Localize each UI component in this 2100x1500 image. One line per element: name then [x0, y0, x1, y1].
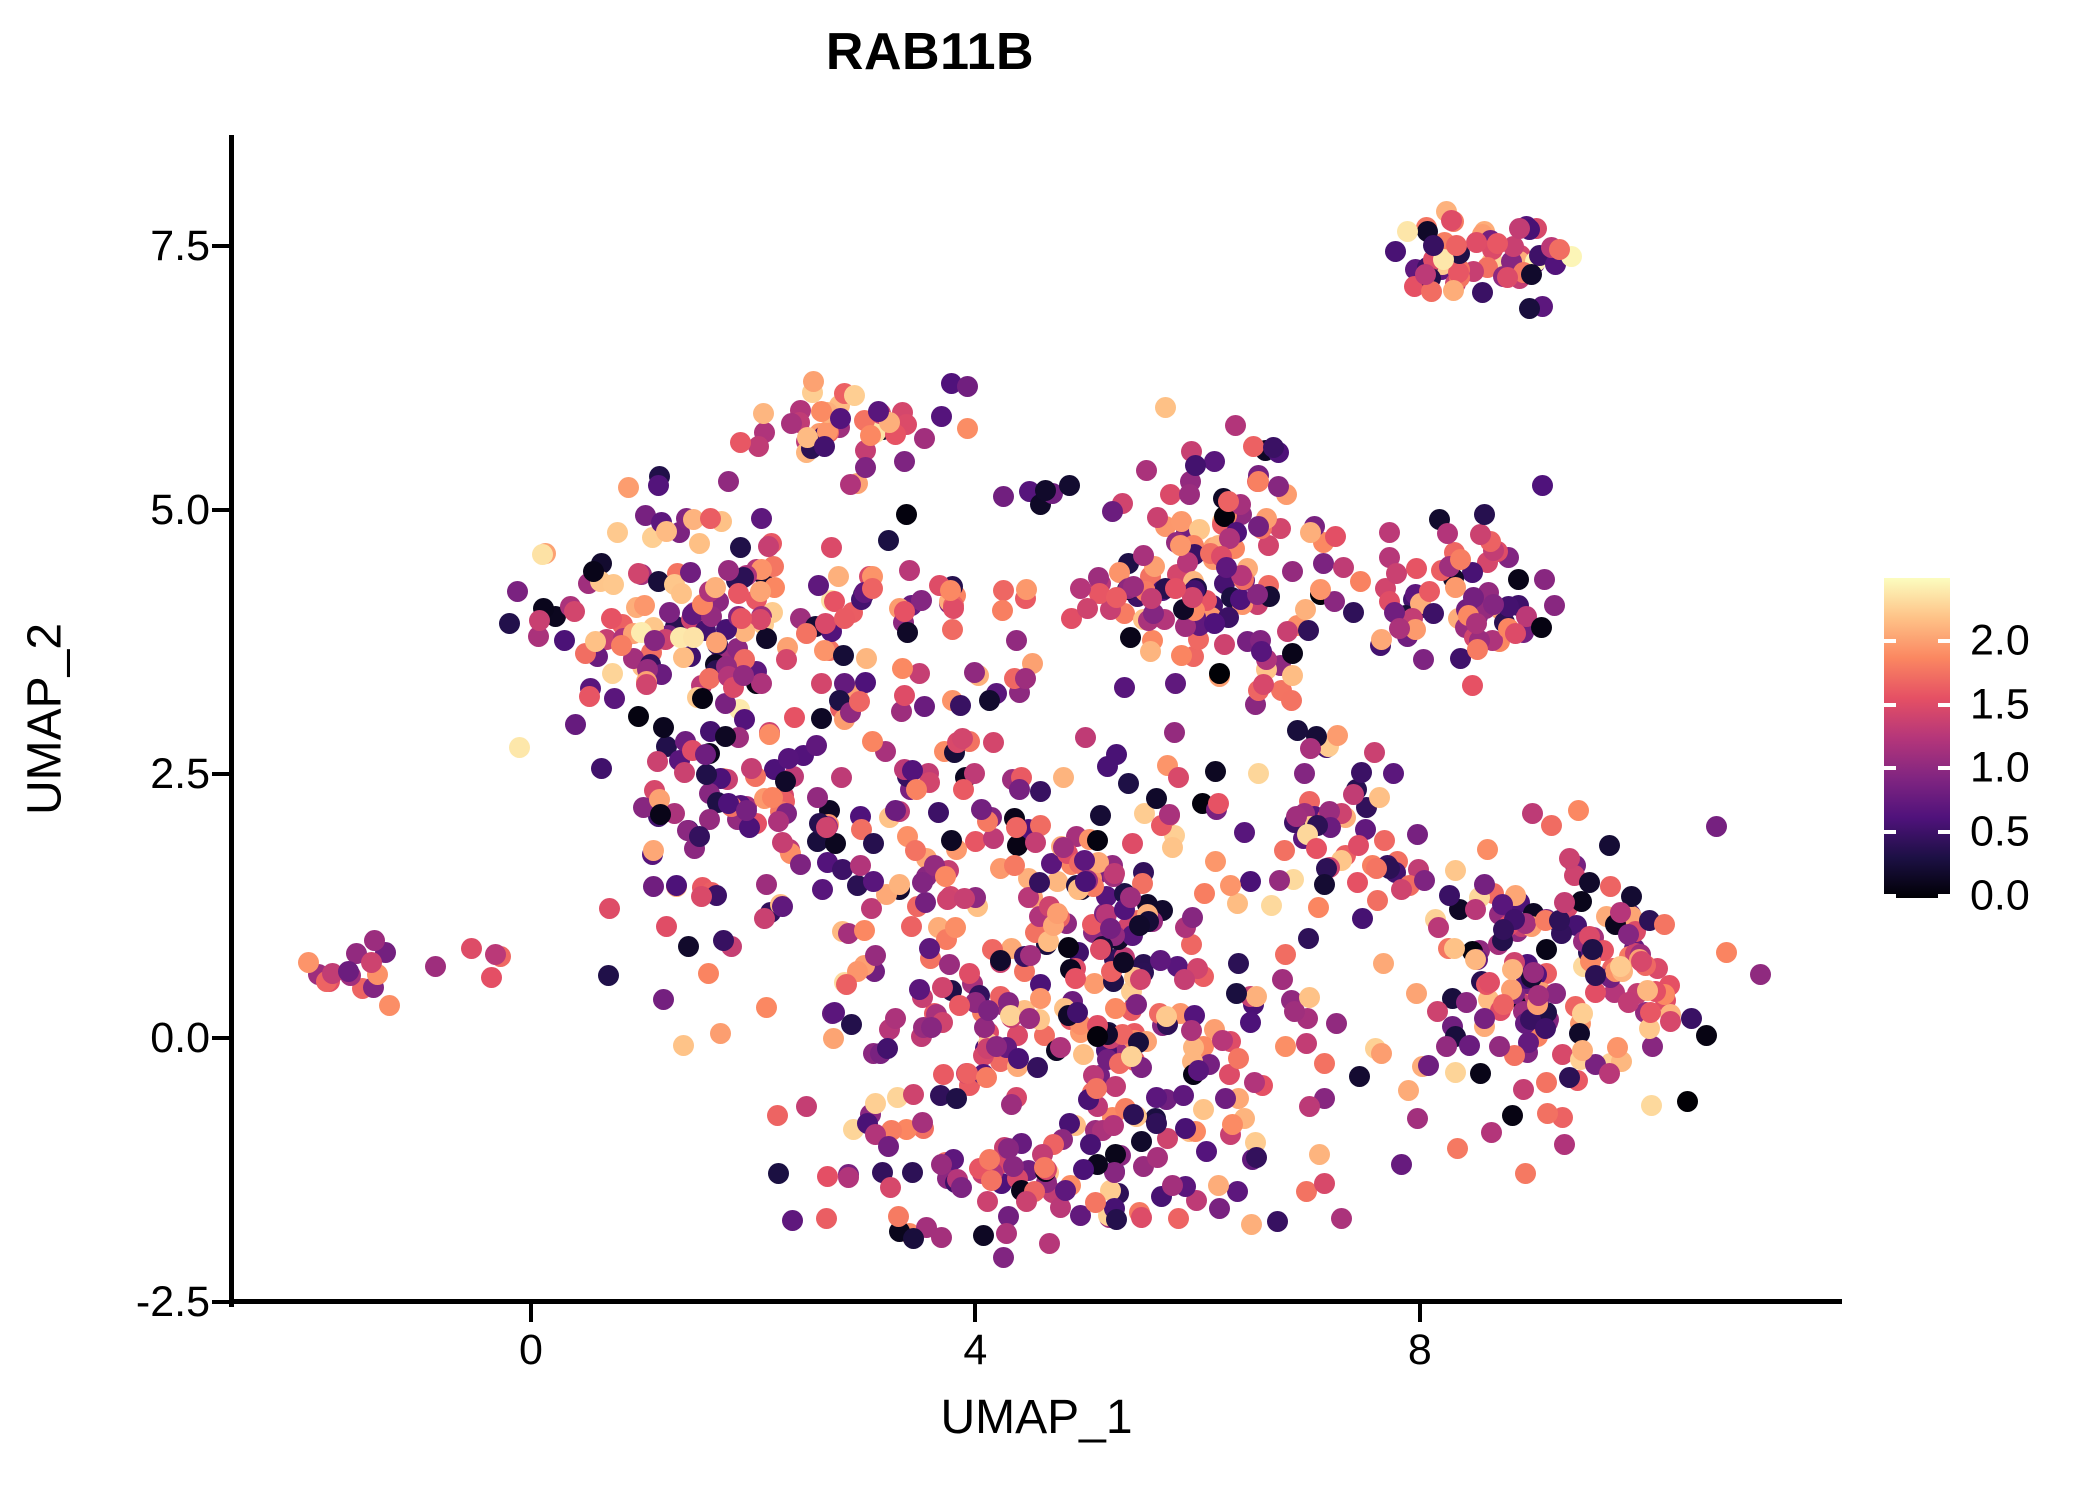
- scatter-point: [1122, 833, 1143, 854]
- scatter-point: [1294, 763, 1315, 784]
- scatter-point: [1366, 858, 1387, 879]
- scatter-point: [1047, 871, 1068, 892]
- scatter-point: [529, 610, 550, 631]
- colorbar-tick-mark: [1938, 830, 1950, 834]
- scatter-point: [912, 1112, 933, 1133]
- scatter-point: [1123, 1104, 1144, 1125]
- scatter-point: [1287, 720, 1308, 741]
- scatter-point: [1281, 690, 1302, 711]
- scatter-point: [1407, 824, 1428, 845]
- scatter-point: [710, 1023, 731, 1044]
- scatter-point: [751, 673, 772, 694]
- scatter-point: [1234, 822, 1255, 843]
- scatter-point: [856, 648, 877, 669]
- scatter-point: [903, 1084, 924, 1105]
- scatter-point: [1282, 561, 1303, 582]
- scatter-point: [1310, 579, 1331, 600]
- scatter-point: [666, 875, 687, 896]
- scatter-point: [1073, 1044, 1094, 1065]
- scatter-point: [653, 989, 674, 1010]
- scatter-point: [1120, 887, 1141, 908]
- scatter-point: [1391, 879, 1412, 900]
- scatter-point: [1001, 1094, 1022, 1115]
- scatter-point: [778, 748, 799, 769]
- scatter-point: [1222, 1114, 1243, 1135]
- scatter-point: [860, 425, 881, 446]
- scatter-point: [1212, 1030, 1233, 1051]
- scatter-point: [1146, 1087, 1167, 1108]
- scatter-point: [834, 608, 855, 629]
- scatter-point: [1493, 994, 1514, 1015]
- scatter-point: [1268, 476, 1289, 497]
- scatter-point: [1364, 742, 1385, 763]
- scatter-point: [1326, 1013, 1347, 1034]
- scatter-point: [1371, 1043, 1392, 1064]
- scatter-point: [1240, 871, 1261, 892]
- scatter-point: [812, 879, 833, 900]
- scatter-point: [692, 688, 713, 709]
- scatter-point: [1447, 1138, 1468, 1159]
- scatter-point: [1205, 851, 1226, 872]
- scatter-point: [1240, 1012, 1261, 1033]
- scatter-point: [1173, 1085, 1194, 1106]
- scatter-point: [601, 608, 622, 629]
- scatter-point: [1004, 855, 1025, 876]
- scatter-point: [1537, 1103, 1558, 1124]
- scatter-point: [1367, 890, 1388, 911]
- scatter-point: [1282, 643, 1303, 664]
- scatter-point: [718, 471, 739, 492]
- colorbar-tick-mark: [1938, 766, 1950, 770]
- scatter-point: [807, 787, 828, 808]
- scatter-point: [1600, 876, 1621, 897]
- x-axis-line: [229, 1299, 1842, 1304]
- scatter-point: [993, 1247, 1014, 1268]
- scatter-point: [1243, 436, 1264, 457]
- scatter-point: [1391, 1154, 1412, 1175]
- scatter-point: [713, 930, 734, 951]
- scatter-point: [598, 965, 619, 986]
- scatter-point: [897, 622, 918, 643]
- x-tick-label: 4: [915, 1326, 1035, 1375]
- scatter-point: [863, 871, 884, 892]
- scatter-point: [671, 583, 692, 604]
- scatter-point: [838, 1167, 859, 1188]
- colorbar-tick-label: 0.0: [1970, 872, 2030, 921]
- y-tick-mark: [212, 1300, 229, 1304]
- scatter-point: [1170, 535, 1191, 556]
- scatter-point: [957, 418, 978, 439]
- scatter-point: [1706, 816, 1727, 837]
- scatter-point: [821, 537, 842, 558]
- scatter-point: [790, 854, 811, 875]
- scatter-point: [1406, 558, 1427, 579]
- scatter-point: [1386, 563, 1407, 584]
- scatter-point: [977, 1191, 998, 1212]
- scatter-point: [1641, 1095, 1662, 1116]
- scatter-point: [1131, 1207, 1152, 1228]
- y-tick-mark: [212, 508, 229, 512]
- scatter-point: [885, 800, 906, 821]
- colorbar-tick-mark: [1884, 639, 1896, 643]
- scatter-point: [880, 1177, 901, 1198]
- scatter-point: [1441, 210, 1462, 231]
- scatter-point: [750, 581, 771, 602]
- scatter-point: [1642, 1036, 1663, 1057]
- scatter-point: [753, 403, 774, 424]
- scatter-point: [784, 707, 805, 728]
- scatter-point: [1349, 1066, 1370, 1087]
- scatter-point: [1208, 793, 1229, 814]
- scatter-point: [1253, 674, 1274, 695]
- scatter-point: [705, 577, 726, 598]
- scatter-point: [1467, 639, 1488, 660]
- y-tick-mark: [212, 1036, 229, 1040]
- scatter-point: [1034, 1157, 1055, 1178]
- scatter-point: [425, 956, 446, 977]
- scatter-point: [1462, 675, 1483, 696]
- colorbar-tick-label: 2.0: [1970, 616, 2030, 665]
- scatter-point: [1272, 969, 1293, 990]
- scatter-point: [888, 1206, 909, 1227]
- scatter-point: [1528, 985, 1549, 1006]
- scatter-point: [1314, 874, 1335, 895]
- scatter-point: [1535, 1018, 1556, 1039]
- scatter-point: [1427, 1001, 1448, 1022]
- scatter-point: [906, 779, 927, 800]
- scatter-point: [1572, 1040, 1593, 1061]
- scatter-point: [554, 630, 575, 651]
- scatter-point: [1444, 938, 1465, 959]
- scatter-point: [1008, 1048, 1029, 1069]
- scatter-point: [1470, 1063, 1491, 1084]
- scatter-point: [741, 758, 762, 779]
- scatter-point: [1165, 673, 1186, 694]
- scatter-point: [902, 1162, 923, 1183]
- scatter-point: [1168, 767, 1189, 788]
- scatter-point: [1681, 1008, 1702, 1029]
- scatter-point: [878, 530, 899, 551]
- scatter-point: [768, 1163, 789, 1184]
- x-tick-mark: [973, 1304, 977, 1322]
- scatter-point: [1374, 830, 1395, 851]
- scatter-point: [1631, 951, 1652, 972]
- scatter-point: [1220, 875, 1241, 896]
- scatter-point: [1164, 722, 1185, 743]
- scatter-point: [1343, 602, 1364, 623]
- scatter-point: [1121, 1046, 1142, 1067]
- scatter-point: [1306, 838, 1327, 859]
- scatter-point: [1016, 579, 1037, 600]
- scatter-point: [942, 619, 963, 640]
- scatter-point: [1058, 937, 1079, 958]
- scatter-point: [1610, 956, 1631, 977]
- scatter-point: [298, 952, 319, 973]
- scatter-point: [338, 961, 359, 982]
- scatter-point: [1248, 471, 1269, 492]
- scatter-point: [736, 800, 757, 821]
- scatter-point: [758, 536, 779, 557]
- scatter-point: [1541, 815, 1562, 836]
- colorbar-tick-mark: [1884, 703, 1896, 707]
- scatter-point: [1497, 267, 1518, 288]
- scatter-point: [1314, 1173, 1335, 1194]
- scatter-point: [751, 508, 772, 529]
- scatter-point: [759, 724, 780, 745]
- x-tick-label: 8: [1360, 1326, 1480, 1375]
- scatter-point: [992, 600, 1013, 621]
- scatter-point: [599, 898, 620, 919]
- scatter-point: [1275, 1036, 1296, 1057]
- scatter-point: [830, 408, 851, 429]
- scatter-point: [1067, 1002, 1088, 1023]
- scatter-point: [1513, 1079, 1534, 1100]
- scatter-point: [981, 1170, 1002, 1191]
- scatter-point: [986, 1036, 1007, 1057]
- y-tick-label: 7.5: [150, 222, 210, 271]
- scatter-point: [507, 581, 528, 602]
- scatter-point: [1174, 969, 1195, 990]
- scatter-point: [1162, 837, 1183, 858]
- chart-root: RAB11B -2.50.02.55.07.5 048 UMAP_1 UMAP_…: [0, 0, 2100, 1500]
- scatter-point: [1296, 1033, 1317, 1054]
- y-tick-label: 0.0: [150, 1014, 210, 1063]
- scatter-point: [1118, 773, 1139, 794]
- scatter-point: [1080, 1134, 1101, 1155]
- scatter-point: [1196, 1141, 1217, 1162]
- scatter-point: [1015, 668, 1036, 689]
- colorbar-tick-label: 1.5: [1970, 680, 2030, 729]
- scatter-point: [1389, 618, 1410, 639]
- scatter-point: [1534, 569, 1555, 590]
- scatter-point: [1075, 871, 1096, 892]
- scatter-point: [928, 802, 949, 823]
- scatter-point: [1750, 964, 1771, 985]
- scatter-point: [796, 1096, 817, 1117]
- scatter-point: [1246, 1147, 1267, 1168]
- scatter-point: [1568, 800, 1589, 821]
- scatter-point: [680, 562, 701, 583]
- scatter-point: [811, 708, 832, 729]
- scatter-point: [1474, 1008, 1495, 1029]
- scatter-point: [1465, 949, 1486, 970]
- scatter-point: [1205, 761, 1226, 782]
- scatter-point: [1450, 549, 1471, 570]
- scatter-point: [754, 908, 775, 929]
- colorbar-legend: 0.00.51.01.52.0: [1884, 578, 1950, 898]
- scatter-point: [1493, 919, 1514, 940]
- scatter-point: [1214, 634, 1235, 655]
- scatter-point: [1274, 840, 1295, 861]
- scatter-point: [1275, 944, 1296, 965]
- scatter-point: [1209, 663, 1230, 684]
- scatter-point: [1027, 1057, 1048, 1078]
- scatter-point: [1351, 762, 1372, 783]
- scatter-point: [1267, 1211, 1288, 1232]
- scatter-point: [1105, 998, 1126, 1019]
- colorbar-tick-mark: [1884, 766, 1896, 770]
- scatter-point: [1113, 952, 1134, 973]
- scatter-point: [756, 997, 777, 1018]
- scatter-point: [1299, 1096, 1320, 1117]
- scatter-point: [912, 872, 933, 893]
- scatter-point: [943, 598, 964, 619]
- scatter-point: [894, 451, 915, 472]
- scatter-point: [1474, 874, 1495, 895]
- y-tick-mark: [212, 772, 229, 776]
- scatter-point: [1428, 917, 1449, 938]
- scatter-point: [1443, 280, 1464, 301]
- colorbar-tick-label: 0.5: [1970, 808, 2030, 857]
- scatter-point: [1216, 557, 1237, 578]
- scatter-point: [1090, 805, 1111, 826]
- y-axis-label: UMAP_2: [18, 623, 73, 815]
- scatter-point: [379, 995, 400, 1016]
- scatter-point: [1414, 870, 1435, 891]
- scatter-point: [1536, 939, 1557, 960]
- y-tick-label: 2.5: [150, 750, 210, 799]
- scatter-point: [1086, 1078, 1107, 1099]
- scatter-point: [1204, 451, 1225, 472]
- scatter-point: [1579, 872, 1600, 893]
- x-tick-mark: [529, 1304, 533, 1322]
- scatter-point: [1215, 1088, 1236, 1109]
- scatter-point: [1696, 1025, 1717, 1046]
- scatter-point: [1298, 620, 1319, 641]
- scatter-point: [728, 583, 749, 604]
- scatter-point: [715, 726, 736, 747]
- scatter-point: [841, 1014, 862, 1035]
- scatter-point: [1470, 524, 1491, 545]
- scatter-point: [1282, 665, 1303, 686]
- scatter-point: [1423, 235, 1444, 256]
- scatter-point: [1102, 501, 1123, 522]
- scatter-point: [1406, 983, 1427, 1004]
- scatter-point: [1074, 850, 1095, 871]
- scatter-point: [1020, 945, 1041, 966]
- scatter-point: [1481, 1122, 1502, 1143]
- scatter-point: [1505, 623, 1526, 644]
- scatter-point: [1309, 1144, 1330, 1165]
- scatter-point: [931, 1154, 952, 1175]
- scatter-point: [730, 537, 751, 558]
- scatter-point: [957, 376, 978, 397]
- scatter-point: [1104, 863, 1125, 884]
- scatter-point: [731, 608, 752, 629]
- scatter-point: [909, 979, 930, 1000]
- scatter-point: [1559, 1067, 1580, 1088]
- scatter-point: [1188, 1060, 1209, 1081]
- scatter-point: [603, 574, 624, 595]
- scatter-point: [1419, 581, 1440, 602]
- scatter-point: [1241, 1214, 1262, 1235]
- scatter-point: [1244, 1072, 1265, 1093]
- scatter-point: [772, 832, 793, 853]
- scatter-point: [1182, 907, 1203, 928]
- scatter-point: [939, 954, 960, 975]
- scatter-point: [1162, 1175, 1183, 1196]
- scatter-point: [643, 876, 664, 897]
- scatter-point: [1029, 872, 1050, 893]
- y-tick-label: -2.5: [136, 1278, 210, 1327]
- scatter-point: [1559, 848, 1580, 869]
- scatter-point: [808, 575, 829, 596]
- scatter-point: [1660, 1011, 1681, 1032]
- scatter-point: [1120, 627, 1141, 648]
- scatter-point: [931, 406, 952, 427]
- scatter-point: [1413, 649, 1434, 670]
- scatter-point: [499, 613, 520, 634]
- scatter-point: [863, 833, 884, 854]
- y-tick-mark: [212, 244, 229, 248]
- scatter-point: [1147, 1147, 1168, 1168]
- scatter-point: [1085, 1192, 1106, 1213]
- scatter-point: [1100, 918, 1121, 939]
- scatter-point: [1147, 507, 1168, 528]
- scatter-point: [1300, 738, 1321, 759]
- scatter-point: [1436, 1036, 1457, 1057]
- scatter-point: [1035, 480, 1056, 501]
- scatter-point: [1000, 1005, 1021, 1026]
- scatter-point: [611, 635, 632, 656]
- scatter-point: [941, 830, 962, 851]
- scatter-point: [1607, 1037, 1628, 1058]
- scatter-point: [1532, 475, 1553, 496]
- scatter-point: [1150, 950, 1171, 971]
- colorbar-tick-mark: [1884, 894, 1896, 898]
- scatter-point: [1114, 677, 1135, 698]
- scatter-point: [1087, 830, 1108, 851]
- scatter-point: [855, 457, 876, 478]
- scatter-point: [914, 428, 935, 449]
- y-axis-label-wrap: UMAP_2: [0, 135, 90, 1303]
- scatter-point: [461, 938, 482, 959]
- scatter-point: [1065, 968, 1086, 989]
- scatter-point: [1053, 837, 1074, 858]
- scatter-point: [1489, 1036, 1510, 1057]
- scatter-point: [1090, 939, 1111, 960]
- scatter-point: [1269, 870, 1290, 891]
- scatter-point: [673, 1035, 694, 1056]
- scatter-point: [1554, 892, 1575, 913]
- scatter-point: [836, 974, 857, 995]
- scatter-point: [878, 1136, 899, 1157]
- scatter-point: [1445, 1062, 1466, 1083]
- scatter-point: [1131, 1131, 1152, 1152]
- scatter-point: [700, 508, 721, 529]
- scatter-point: [762, 787, 783, 808]
- scatter-point: [1295, 599, 1316, 620]
- scatter-point: [1136, 460, 1157, 481]
- scatter-point: [1536, 1072, 1557, 1093]
- scatter-point: [862, 578, 883, 599]
- scatter-point: [1155, 397, 1176, 418]
- scatter-point: [1350, 571, 1371, 592]
- scatter-point: [634, 595, 655, 616]
- scatter-point: [1445, 860, 1466, 881]
- scatter-point: [896, 504, 917, 525]
- scatter-point: [673, 647, 694, 668]
- scatter-point: [756, 874, 777, 895]
- scatter-point: [591, 758, 612, 779]
- y-axis-line: [229, 135, 234, 1307]
- scatter-point: [1474, 504, 1495, 525]
- scatter-point: [844, 385, 865, 406]
- scatter-point: [1248, 516, 1269, 537]
- scatter-point: [811, 401, 832, 422]
- scatter-point: [828, 566, 849, 587]
- scatter-point: [718, 560, 739, 581]
